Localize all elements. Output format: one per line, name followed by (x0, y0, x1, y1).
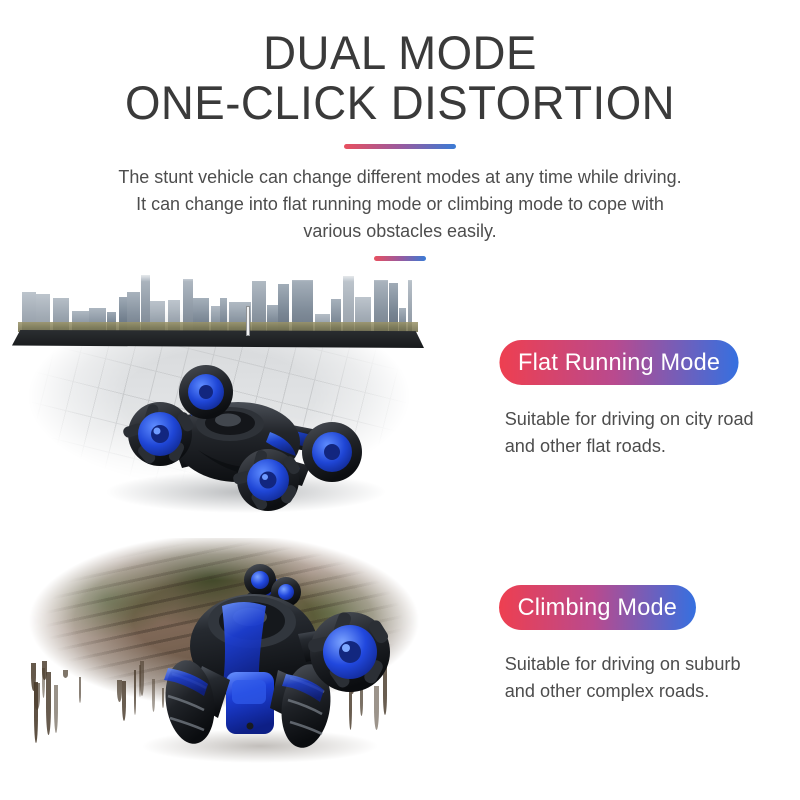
gradient-divider-primary (344, 144, 456, 149)
product-photo-flat-mode (0, 262, 480, 524)
intro-line-3: various obstacles easily. (12, 217, 788, 244)
badge-flat-running-mode[interactable]: Flat Running Mode (499, 340, 738, 385)
mode-info-climbing: Climbing Mode Suitable for driving on su… (480, 520, 800, 790)
city-rooftop-scene (0, 262, 480, 524)
gradient-divider-secondary (374, 256, 426, 261)
page-title-line-1: DUAL MODE (12, 28, 788, 78)
mode-row-climbing: Climbing Mode Suitable for driving on su… (0, 520, 800, 790)
badge-climbing-mode[interactable]: Climbing Mode (499, 585, 696, 630)
rooftop-antenna (246, 306, 250, 336)
description-climbing-mode: Suitable for driving on suburb and other… (505, 650, 770, 704)
mode-info-flat-running: Flat Running Mode Suitable for driving o… (480, 262, 800, 524)
secondary-divider-wrap (0, 244, 800, 261)
mossy-rock-scene (0, 520, 480, 790)
intro-line-2: It can change into flat running mode or … (12, 190, 788, 217)
product-photo-climbing-mode (0, 520, 480, 790)
wheel-front-left (179, 365, 233, 419)
wheel-front-right (302, 422, 362, 482)
intro-paragraph: The stunt vehicle can change different m… (12, 163, 788, 244)
intro-line-1: The stunt vehicle can change different m… (12, 163, 788, 190)
rc-car-climbing-mode (110, 550, 400, 765)
rc-car-flat-mode (78, 346, 408, 516)
page-header: DUAL MODE ONE-CLICK DISTORTION The stunt… (0, 0, 800, 261)
page-title-line-2: ONE-CLICK DISTORTION (12, 78, 788, 128)
title-divider-wrap (0, 128, 800, 149)
description-flat-running-mode: Suitable for driving on city road and ot… (505, 405, 770, 459)
mode-row-flat-running: Flat Running Mode Suitable for driving o… (0, 262, 800, 524)
